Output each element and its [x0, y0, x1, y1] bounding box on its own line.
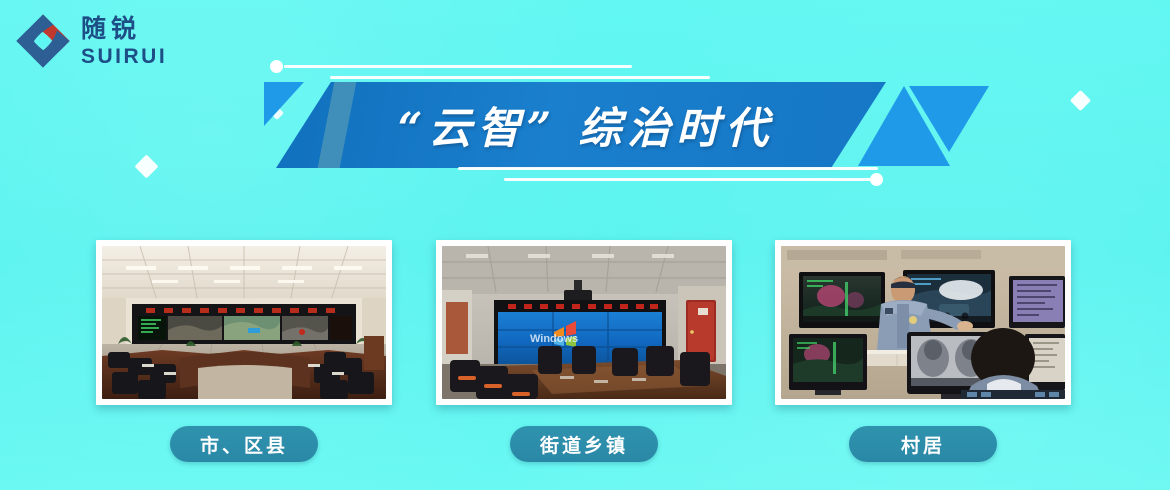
triangle-down-right-icon [909, 86, 989, 152]
photo-frame: Windows [436, 240, 732, 405]
title-block: “云智” 综治时代 [258, 52, 948, 194]
card-caption: 市、区县 [170, 426, 318, 462]
svg-text:Windows: Windows [530, 333, 578, 345]
brand-wordmark: 随锐 SUIRUI [81, 15, 167, 67]
village-residence-monitoring-photo [781, 246, 1065, 399]
card-caption: 村居 [849, 426, 997, 462]
white-diamond-top-right [1070, 90, 1091, 111]
card-street-township[interactable]: Windows [436, 240, 732, 462]
slide-canvas: 随锐 SUIRUI “云智” 综治时代 [0, 0, 1170, 490]
brand-name-cn: 随锐 [81, 17, 167, 42]
brand-logo: 随锐 SUIRUI [14, 12, 167, 70]
decor-rule-top-b [330, 76, 710, 79]
line-end-dot-right [870, 173, 883, 186]
decor-rule-bottom-b [504, 178, 879, 181]
card-city-district[interactable]: 市、区县 [96, 240, 392, 462]
line-end-dot-left [270, 60, 283, 73]
pinwheel-diamond-logo-icon [14, 12, 72, 70]
photo-frame [775, 240, 1071, 405]
brand-name-en: SUIRUI [81, 46, 167, 67]
decor-rule-bottom-a [458, 167, 878, 170]
white-diamond-left [134, 154, 158, 178]
card-row: 市、区县 [0, 240, 1170, 475]
city-district-command-center-photo [102, 246, 386, 399]
page-title: “云智” 综治时代 [276, 82, 886, 168]
title-banner: “云智” 综治时代 [258, 82, 948, 170]
street-township-meeting-room-photo: Windows [442, 246, 726, 399]
card-caption: 街道乡镇 [510, 426, 658, 462]
photo-frame [96, 240, 392, 405]
card-village-residence[interactable]: 村居 [775, 240, 1071, 462]
decor-rule-top-a [284, 65, 632, 68]
